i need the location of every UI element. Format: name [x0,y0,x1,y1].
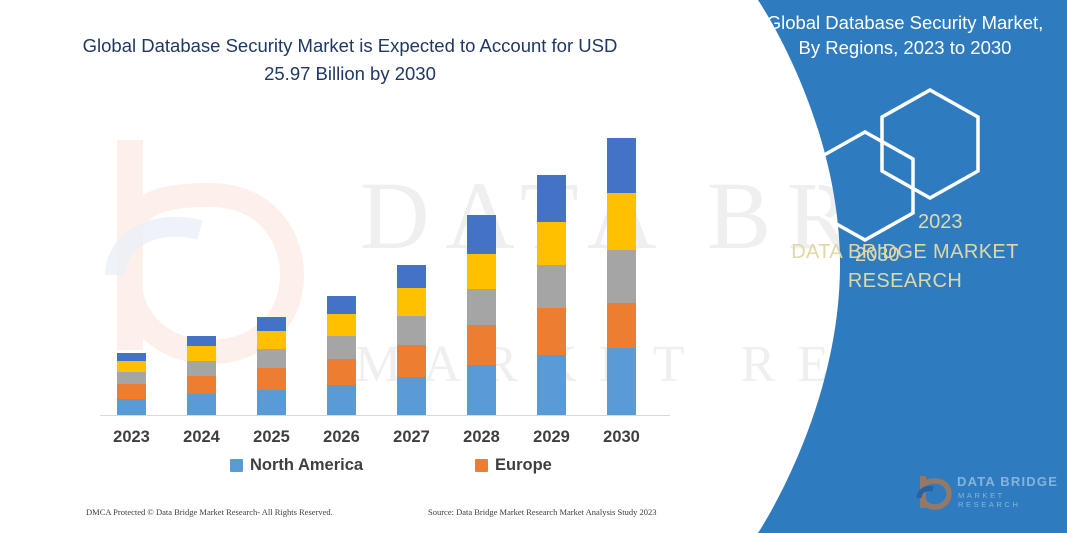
bar-segment [257,331,286,349]
x-axis-label-2029: 2029 [517,428,587,447]
bar-segment [327,385,356,415]
brand-line-2: RESEARCH [775,267,1035,296]
hexagon-2023-shape [882,90,978,198]
bar-2023[interactable] [117,353,146,415]
bar-segment [257,390,286,415]
bar-segment [467,325,496,365]
bar-2027[interactable] [397,265,426,415]
bar-2024[interactable] [187,336,216,415]
bar-segment [327,296,356,314]
bar-segment [467,289,496,325]
bar-segment [117,384,146,399]
hexagon-year-group: 2030 2023 [810,85,1030,215]
bar-segment [537,175,566,222]
bar-2030[interactable] [607,138,636,415]
bar-segment [467,215,496,254]
bar-segment [187,361,216,376]
x-axis-label-2025: 2025 [237,428,307,447]
bar-segment [607,348,636,415]
panel-title-line2: By Regions, 2023 to 2030 [755,35,1055,60]
hexagon-2030-shape [817,132,913,240]
bar-segment [327,359,356,385]
bar-segment [327,314,356,336]
bar-segment [397,316,426,345]
bar-segment [537,222,566,265]
bar-2025[interactable] [257,317,286,415]
bar-segment [257,349,286,368]
panel-footer-logo: DATA BRIDGE MARKET RESEARCH [915,470,1060,516]
bar-segment [187,394,216,415]
footer-copyright: DMCA Protected © Data Bridge Market Rese… [86,507,333,517]
bar-segment [397,288,426,316]
bar-segment [467,365,496,415]
legend-item-north-america[interactable]: North America [230,456,363,475]
bar-segment [117,399,146,415]
bar-segment [187,336,216,346]
bar-segment [607,303,636,348]
chart-plot-area [100,120,670,416]
x-axis-label-2027: 2027 [377,428,447,447]
x-axis-label-2024: 2024 [167,428,237,447]
bar-segment [397,377,426,415]
x-axis-labels: 20232024202520262027202820292030 [100,428,670,454]
bar-segment [607,138,636,193]
infographic-root: DATA BRIDGE MARKET RESEARCH Global Datab… [0,0,1067,533]
x-axis-label-2026: 2026 [307,428,377,447]
hexagon-label-2023: 2023 [918,211,963,234]
bar-2026[interactable] [327,296,356,415]
bar-segment [467,254,496,289]
bar-segment [537,308,566,355]
bar-segment [327,336,356,359]
x-axis-label-2030: 2030 [587,428,657,447]
legend-item-europe[interactable]: Europe [475,456,552,475]
bar-segment [397,265,426,288]
bar-segment [257,368,286,390]
bar-segment [397,345,426,377]
legend-label: North America [250,456,363,475]
brand-name: DATA BRIDGE MARKET RESEARCH [775,238,1035,296]
footer-source: Source: Data Bridge Market Research Mark… [428,507,657,517]
panel-logo-line1: DATA BRIDGE [957,474,1058,489]
x-axis-label-2028: 2028 [447,428,517,447]
bar-segment [117,361,146,372]
panel-title-line1: Global Database Security Market, [755,10,1055,35]
bar-2028[interactable] [467,215,496,415]
chart-title: Global Database Security Market is Expec… [60,32,640,88]
bridge-b-logo-icon [915,472,955,514]
chart-legend: North AmericaEurope [100,456,670,480]
legend-label: Europe [495,456,552,475]
bar-segment [187,376,216,394]
brand-line-1: DATA BRIDGE MARKET [775,238,1035,267]
bar-segment [607,250,636,303]
bar-segment [537,355,566,415]
bar-segment [187,346,216,361]
bar-segment [117,372,146,384]
legend-swatch-icon [230,459,243,472]
bar-segment [117,353,146,361]
legend-swatch-icon [475,459,488,472]
x-axis-line [100,415,670,416]
panel-logo-line2: MARKET RESEARCH [958,491,1060,509]
panel-title: Global Database Security Market, By Regi… [755,10,1055,60]
bar-segment [537,265,566,308]
x-axis-label-2023: 2023 [97,428,167,447]
bar-2029[interactable] [537,175,566,415]
bar-segment [257,317,286,331]
bar-segment [607,193,636,250]
